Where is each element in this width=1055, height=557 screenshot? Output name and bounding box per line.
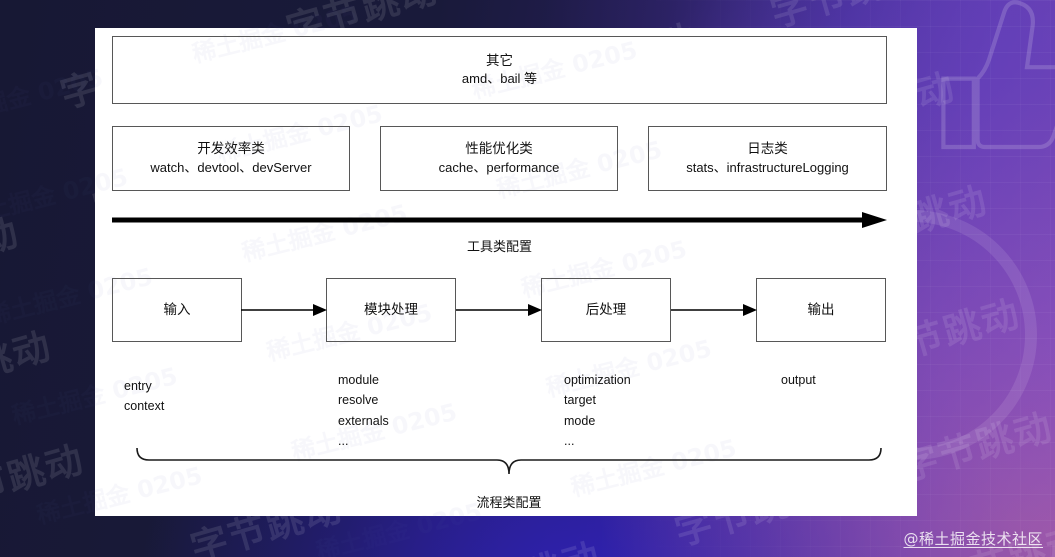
flow-stage-input: 输入 (112, 278, 242, 342)
attribution-watermark: @稀土掘金技术社区 (903, 528, 1043, 549)
flow-stage-output-title: 输出 (808, 300, 835, 320)
config-box-performance-items: cache、performance (439, 159, 560, 178)
flow-connector-arrow-icon (241, 302, 327, 318)
flow-stage-module-processing: 模块处理 (326, 278, 456, 342)
config-box-logging: 日志类 stats、infrastructureLogging (648, 126, 887, 191)
config-box-logging-items: stats、infrastructureLogging (686, 159, 849, 178)
flow-stage-post-processing-title: 后处理 (586, 300, 627, 320)
flow-options-output: output (781, 370, 816, 390)
config-box-dev-efficiency-items: watch、devtool、devServer (150, 159, 311, 178)
tool-config-arrow-icon (112, 211, 887, 229)
config-box-logging-title: 日志类 (747, 139, 788, 159)
flow-connector-arrow-icon (456, 302, 542, 318)
config-box-performance: 性能优化类 cache、performance (380, 126, 618, 191)
config-box-other: 其它 amd、bail 等 (112, 36, 887, 104)
config-box-dev-efficiency: 开发效率类 watch、devtool、devServer (112, 126, 350, 191)
flow-options-post-processing: optimization target mode ... (564, 370, 631, 451)
flow-connector-arrow-icon (671, 302, 757, 318)
config-box-dev-efficiency-title: 开发效率类 (197, 139, 265, 159)
flow-options-input: entry context (124, 376, 164, 417)
config-box-performance-title: 性能优化类 (465, 139, 533, 159)
tool-config-arrow-label: 工具类配置 (112, 236, 887, 255)
flow-stage-post-processing: 后处理 (541, 278, 671, 342)
diagram-panel: 稀土掘金 0205 稀土掘金 0205 稀土掘金 0205 稀土掘金 0205 … (95, 28, 917, 516)
config-box-other-items: amd、bail 等 (462, 70, 537, 89)
flow-stage-output: 输出 (756, 278, 886, 342)
flow-stage-input-title: 输入 (164, 300, 191, 320)
flow-config-brace-label: 流程类配置 (135, 492, 883, 511)
flow-config-brace-icon (135, 446, 883, 476)
flow-options-module-processing: module resolve externals ... (338, 370, 389, 451)
thumbs-up-icon (913, 0, 1055, 166)
config-box-other-title: 其它 (486, 51, 513, 71)
flow-stage-module-processing-title: 模块处理 (364, 300, 418, 320)
